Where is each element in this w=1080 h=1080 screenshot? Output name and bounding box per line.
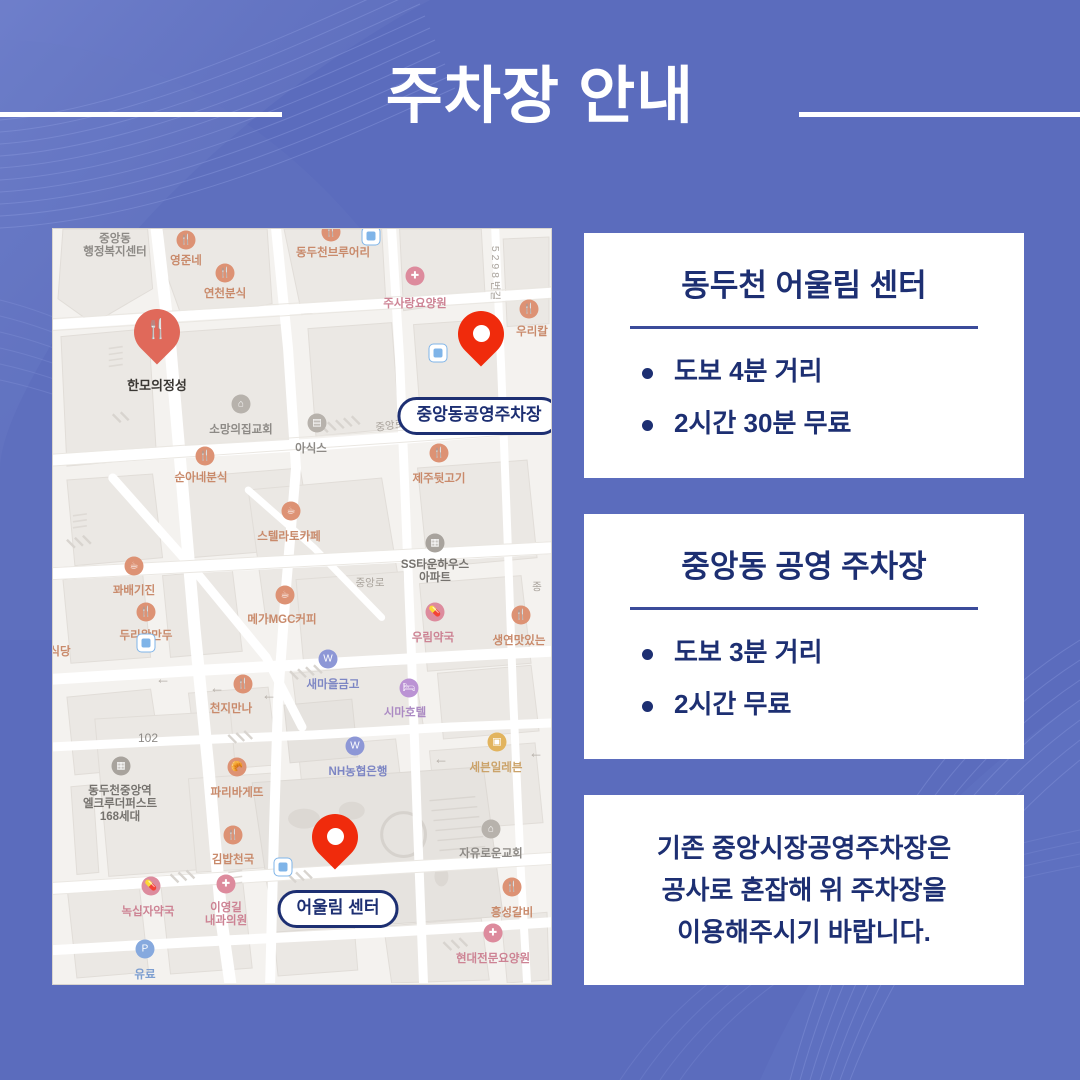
food-poi-icon: 🍴 <box>224 826 243 845</box>
one-way-arrow-icon: ← <box>434 751 449 768</box>
one-way-arrow-icon: ← <box>529 745 544 762</box>
med-poi-icon: ✚ <box>406 267 425 286</box>
one-way-arrow-icon: ← <box>156 671 171 688</box>
header: 주차장 안내 <box>0 0 1080 200</box>
church-poi-icon: ⌂ <box>232 395 251 414</box>
cafe-poi-icon: ☕ <box>282 502 301 521</box>
apt-poi-icon: ▦ <box>112 757 131 776</box>
church-poi-icon: ⌂ <box>482 820 501 839</box>
card-bullet-list: 도보 3분 거리 2시간 무료 <box>642 638 1024 720</box>
gov-poi-icon: ▤ <box>308 414 327 433</box>
cafe-poi-icon: ☕ <box>125 557 144 576</box>
cafe-poi-icon: ☕ <box>276 586 295 605</box>
card-title: 동두천 어울림 센터 <box>584 233 1024 304</box>
food-poi-icon: 🍴 <box>430 444 449 463</box>
map-callout-eoullim-center[interactable]: 어울림 센터 <box>278 890 399 928</box>
card-bullet-list: 도보 4분 거리 2시간 30분 무료 <box>642 357 1024 439</box>
list-item: 2시간 무료 <box>642 690 1024 720</box>
park-poi-icon: P <box>136 940 155 959</box>
card-divider <box>630 326 978 329</box>
card-title: 중앙동 공영 주차장 <box>584 514 1024 585</box>
one-way-arrow-icon: ← <box>262 687 277 704</box>
food-poi-icon: 🍴 <box>177 231 196 250</box>
apt-poi-icon: ▦ <box>426 534 445 553</box>
med-poi-icon: 💊 <box>142 877 161 896</box>
map-pin-eoullim-center[interactable] <box>312 814 358 874</box>
pin-hole <box>473 325 490 342</box>
bank-poi-icon: W <box>346 737 365 756</box>
map-pin-hanmoui-jeongseong[interactable]: 🍴 <box>134 309 180 369</box>
med-poi-icon: ✚ <box>484 924 503 943</box>
list-item: 2시간 30분 무료 <box>642 409 1024 439</box>
bus-stop-icon <box>362 228 381 246</box>
map-pin-caption-hanmoui-jeongseong: 한모의정성 <box>127 375 187 394</box>
notice-line-2: 공사로 혼잡해 위 주차장을 <box>610 869 998 911</box>
list-item: 도보 4분 거리 <box>642 357 1024 387</box>
map-callout-jungangdong-parking[interactable]: 중앙동공영주차장 <box>397 397 552 435</box>
restaurant-icon: 🍴 <box>134 320 180 339</box>
food-poi-icon: 🍴 <box>503 878 522 897</box>
store-poi-icon: ▣ <box>488 733 507 752</box>
notice-line-3: 이용해주시기 바랍니다. <box>610 911 998 953</box>
food-poi-icon: 🍴 <box>520 300 539 319</box>
page-title: 주차장 안내 <box>0 63 1080 131</box>
food-poi-icon: 🍴 <box>196 447 215 466</box>
info-card-jungangdong-parking: 중앙동 공영 주차장 도보 3분 거리 2시간 무료 <box>584 514 1024 759</box>
cafe-poi-icon: 🥐 <box>228 758 247 777</box>
hotel-poi-icon: 🛏 <box>400 679 419 698</box>
bus-stop-icon <box>429 344 448 363</box>
one-way-arrow-icon: ← <box>210 680 225 697</box>
map-panel[interactable]: 중앙동 행정복지센터🍴영준네🍴동두천브루어리🍴연천분식✚주사랑요양원🍴우리칼⌂소… <box>52 228 552 985</box>
notice-text: 기존 중앙시장공영주차장은 공사로 혼잡해 위 주차장을 이용해주시기 바랍니다… <box>584 795 1024 953</box>
med-poi-icon: ✚ <box>217 875 236 894</box>
list-item: 도보 3분 거리 <box>642 638 1024 668</box>
bus-stop-icon <box>274 858 293 877</box>
med-poi-icon: 💊 <box>426 603 445 622</box>
card-divider <box>630 607 978 610</box>
bank-poi-icon: W <box>319 650 338 669</box>
food-poi-icon: 🍴 <box>137 603 156 622</box>
map-pin-jungangdong-parking[interactable] <box>458 311 504 371</box>
food-poi-icon: 🍴 <box>234 675 253 694</box>
notice-line-1: 기존 중앙시장공영주차장은 <box>610 827 998 869</box>
pin-hole <box>327 828 344 845</box>
food-poi-icon: 🍴 <box>512 606 531 625</box>
info-card-eoullim-center: 동두천 어울림 센터 도보 4분 거리 2시간 30분 무료 <box>584 233 1024 478</box>
info-card-notice: 기존 중앙시장공영주차장은 공사로 혼잡해 위 주차장을 이용해주시기 바랍니다… <box>584 795 1024 985</box>
bus-stop-icon <box>137 634 156 653</box>
food-poi-icon: 🍴 <box>216 264 235 283</box>
